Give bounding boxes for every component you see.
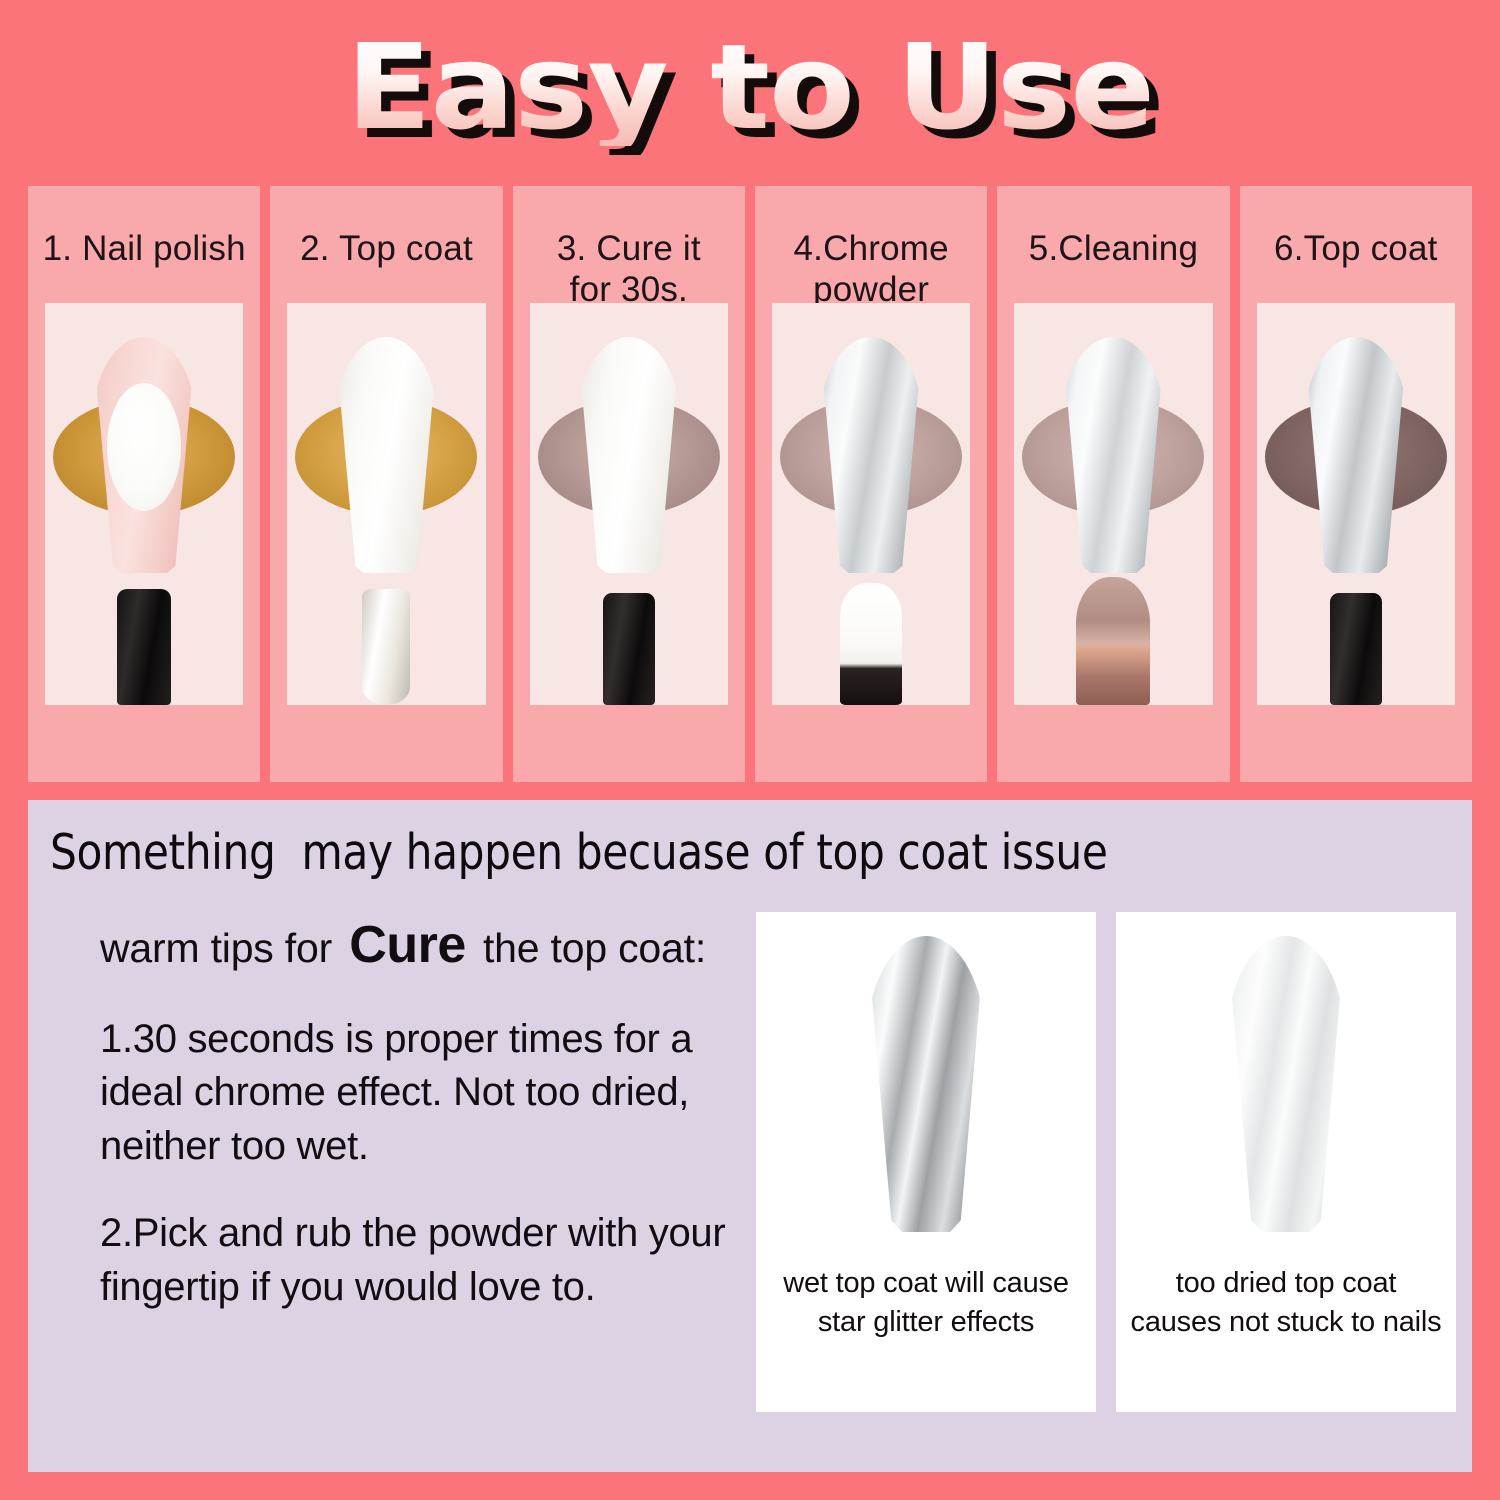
step-card-4: 4.Chromepowder: [755, 186, 987, 782]
step-label-2: 2. Top coat: [270, 186, 502, 304]
step-card-5: 5.Cleaning: [997, 186, 1229, 782]
nail-icon-2: [334, 337, 438, 573]
brush-cap-icon: [1330, 593, 1382, 705]
polish-bottle-cap-icon: [117, 589, 171, 705]
compare-caption-dried: too dried top coat causes not stuck to n…: [1116, 1264, 1456, 1342]
nail-icon-dried-topcoat: [1226, 936, 1346, 1232]
nail-icon-3: [577, 337, 681, 573]
nail-icon-5: [1061, 337, 1165, 573]
step-photo-3: [530, 303, 728, 705]
page-title: Easy to Use: [346, 28, 1154, 146]
step-card-6: 6.Top coat: [1240, 186, 1472, 782]
nail-icon-wet-topcoat: [866, 936, 986, 1232]
tips-column: warm tips for Cure the top coat: 1.30 se…: [100, 912, 760, 1349]
step-photo-2: [287, 303, 485, 705]
nail-icon-6: [1304, 337, 1408, 573]
tips-headline-after: the top coat:: [483, 925, 706, 971]
nail-icon-4: [819, 337, 923, 573]
steps-row: 1. Nail polish 2. Top coat 3. Cure itfor…: [28, 186, 1472, 782]
step-label-3: 3. Cure itfor 30s.: [513, 186, 745, 311]
panel-heading: Something may happen becuase of top coat…: [50, 824, 1394, 881]
topcoat-issue-panel: Something may happen becuase of top coat…: [28, 800, 1472, 1472]
compare-nail-box-wet: [756, 912, 1096, 1264]
white-polish-overlay: [107, 383, 181, 511]
step-label-4: 4.Chromepowder: [755, 186, 987, 311]
step-photo-6: [1257, 303, 1455, 705]
step-photo-1: [45, 303, 243, 705]
step-photo-5: [1014, 303, 1212, 705]
compare-card-dried: too dried top coat causes not stuck to n…: [1116, 912, 1456, 1412]
step-card-2: 2. Top coat: [270, 186, 502, 782]
step-card-1: 1. Nail polish: [28, 186, 260, 782]
infographic-page: Easy to Use 1. Nail polish 2. Top coat: [0, 0, 1500, 1500]
velvet-applicator-icon: [840, 583, 902, 705]
title-banner: Easy to Use: [0, 28, 1500, 146]
compare-card-wet: wet top coat will cause star glitter eff…: [756, 912, 1096, 1412]
tip-item-2: 2.Pick and rub the powder with your fing…: [100, 1207, 760, 1314]
step-photo-4: [772, 303, 970, 705]
step-card-3: 3. Cure itfor 30s.: [513, 186, 745, 782]
tips-headline-emphasis: Cure: [343, 916, 471, 974]
compare-caption-wet: wet top coat will cause star glitter eff…: [756, 1264, 1096, 1342]
compare-cards: wet top coat will cause star glitter eff…: [756, 912, 1456, 1412]
step-label-1: 1. Nail polish: [28, 186, 260, 304]
step-label-5: 5.Cleaning: [997, 186, 1229, 304]
tips-headline-before: warm tips for: [100, 925, 332, 971]
brush-cap-icon: [603, 593, 655, 705]
compare-nail-box-dried: [1116, 912, 1456, 1264]
dusting-brush-icon: [1076, 577, 1150, 705]
topcoat-brush-icon: [362, 589, 410, 705]
tips-headline: warm tips for Cure the top coat:: [100, 912, 760, 979]
tip-item-1: 1.30 seconds is proper times for a ideal…: [100, 1013, 760, 1174]
step-label-6: 6.Top coat: [1240, 186, 1472, 304]
